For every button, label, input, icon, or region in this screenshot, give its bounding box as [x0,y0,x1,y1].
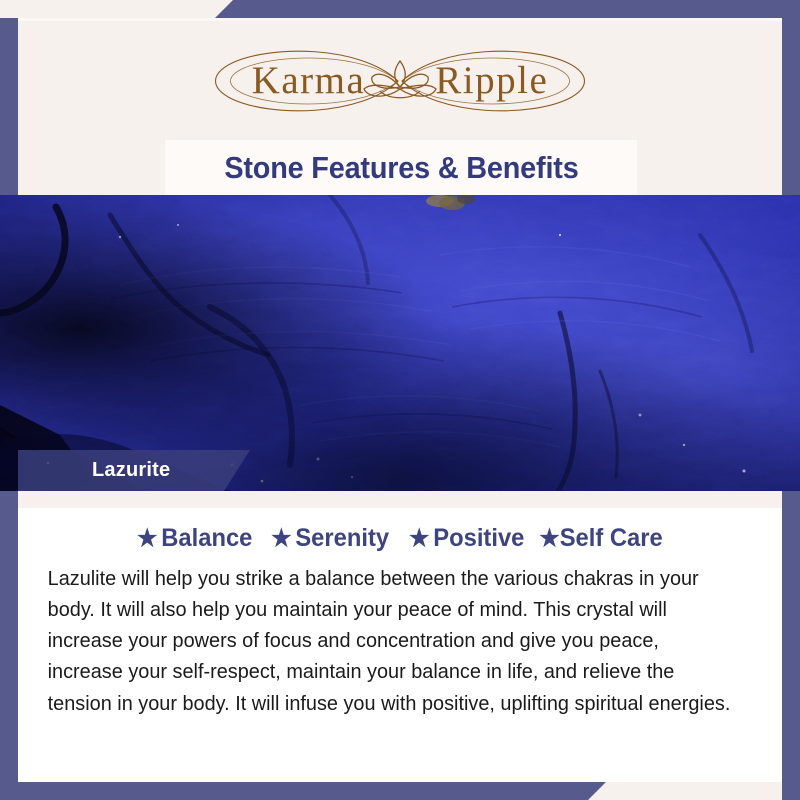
benefit-item-positive: ★ Positive [409,524,524,553]
benefit-label: Positive [433,524,524,553]
benefit-label: Self Care [560,524,663,553]
benefit-item-balance: ★ Balance [137,524,252,553]
star-icon: ★ [272,527,292,551]
content-separator-strip [18,491,782,508]
brand-name-left: Karma [252,58,366,103]
benefit-item-self-care: ★ Self Care [539,524,662,553]
title-panel: Stone Features & Benefits [165,140,637,196]
brand-logo: Karma Ripple [180,41,620,121]
frame-bottom-bar [0,782,606,800]
benefit-item-serenity: ★ Serenity [272,524,390,553]
content-panel: ★ Balance ★ Serenity ★ Positive ★ Self C… [18,508,782,782]
stone-name-badge: Lazurite [18,450,250,491]
benefit-label: Balance [161,524,252,553]
star-icon: ★ [539,527,559,551]
benefit-label: Serenity [296,524,390,553]
brand-wordmark: Karma Ripple [252,58,549,103]
stone-photo [0,195,800,491]
stone-name-label: Lazurite [92,459,170,482]
lazurite-texture-image [0,195,800,491]
header-region: Karma Ripple [18,21,782,140]
star-icon: ★ [137,527,157,551]
infographic-card: Karma Ripple Stone Features & Benefits [0,0,800,800]
brand-name-right: Ripple [435,58,548,103]
benefits-row: ★ Balance ★ Serenity ★ Positive ★ Self C… [36,524,764,553]
star-icon: ★ [409,527,429,551]
stone-description: Lazulite will help you strike a balance … [36,563,742,719]
frame-top-bar [215,0,800,18]
page-title: Stone Features & Benefits [224,150,578,186]
